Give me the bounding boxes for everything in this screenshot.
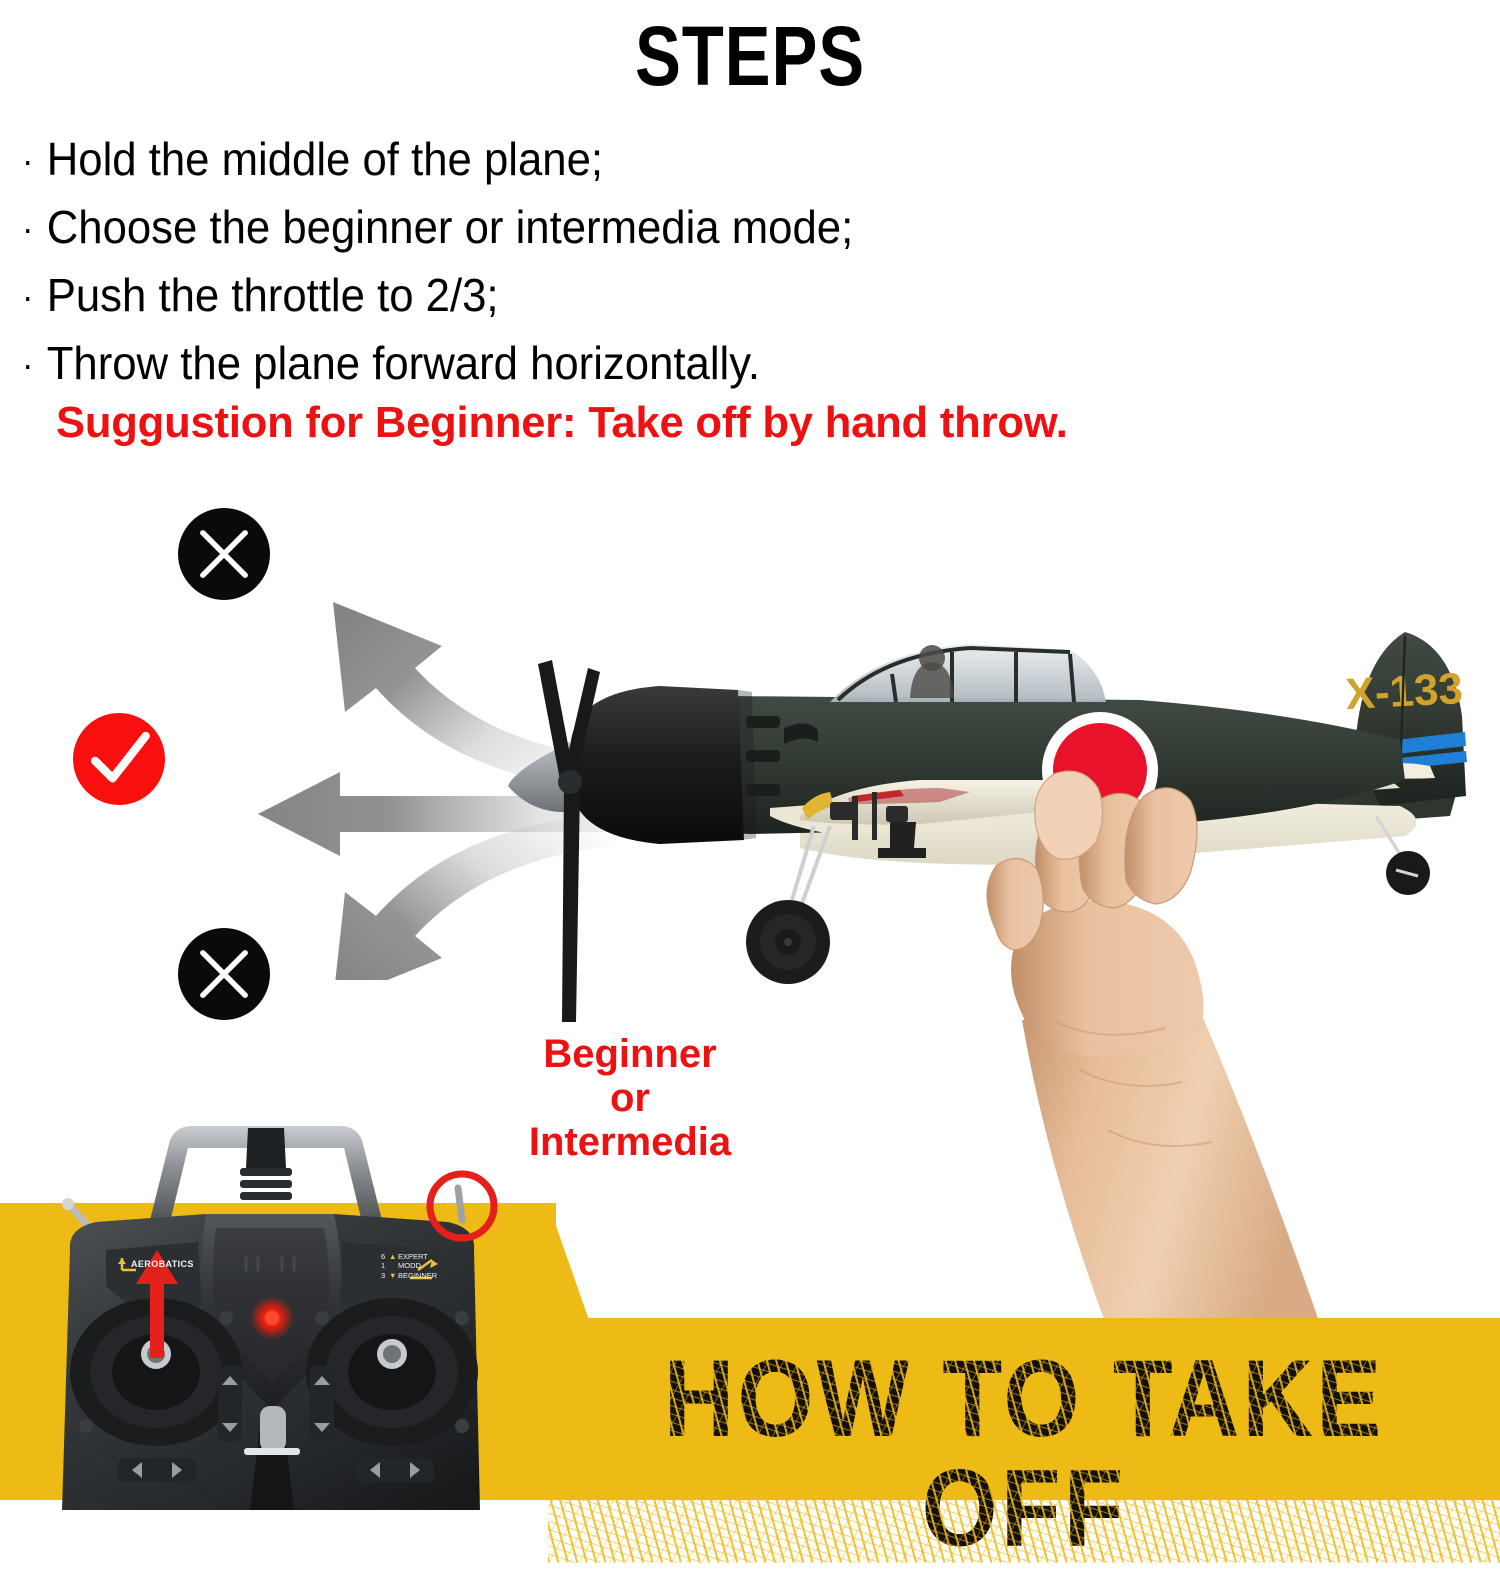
mode-label: EXPERT xyxy=(398,1252,428,1261)
step-text: Push the throttle to 2/3; xyxy=(47,269,499,321)
stub-antenna-left xyxy=(62,1198,90,1228)
mode-triangle-icon: ▲ xyxy=(389,1252,398,1261)
mode-callout-line3: Intermedia xyxy=(490,1120,770,1164)
trim-horizontal-right xyxy=(356,1458,434,1482)
trim-horizontal-left xyxy=(118,1458,196,1482)
canopy xyxy=(830,644,1106,702)
mode-row: 3▼BEGINNER xyxy=(381,1271,437,1280)
steps-list: ·Hold the middle of the plane; ·Choose t… xyxy=(22,126,1482,398)
rc-transmitter xyxy=(10,1110,530,1510)
mode-label: BEGINNER xyxy=(398,1271,437,1280)
trim-vertical-left xyxy=(218,1366,242,1442)
mode-number: 1 xyxy=(381,1261,389,1270)
mode-switch-legend: 6▲EXPERT 1MODD 3▼BEGINNER xyxy=(381,1252,437,1280)
step-text: Hold the middle of the plane; xyxy=(47,133,603,185)
mode-triangle-icon: ▼ xyxy=(389,1271,398,1280)
mode-label: MODD xyxy=(398,1261,421,1270)
mode-row: 1MODD xyxy=(381,1261,437,1270)
step-item: ·Hold the middle of the plane; xyxy=(22,126,1409,194)
banner-title: HOW TO TAKE OFF xyxy=(548,1343,1500,1563)
x-mark-icon-top xyxy=(178,508,270,600)
aerobatics-label: AEROBATICS xyxy=(131,1259,194,1269)
step-item: ·Throw the plane forward horizontally. xyxy=(22,330,1409,398)
mode-number: 3 xyxy=(381,1271,389,1280)
mode-callout-text: Beginner or Intermedia xyxy=(490,1032,770,1164)
trim-vertical-right xyxy=(310,1366,334,1442)
page-title: STEPS xyxy=(135,14,1365,98)
mode-callout-line1: Beginner xyxy=(490,1032,770,1076)
bullet-icon: · xyxy=(22,196,47,262)
hand-holding-plane xyxy=(930,770,1350,1330)
step-text: Throw the plane forward horizontally. xyxy=(47,337,760,389)
banner-title-text: HOW TO TAKE OFF xyxy=(548,1343,1500,1563)
step-text: Choose the beginner or intermedia mode; xyxy=(47,201,854,253)
check-mark-icon xyxy=(73,713,165,805)
step-item: ·Push the throttle to 2/3; xyxy=(22,262,1409,330)
x-mark-icon-bottom xyxy=(178,928,270,1020)
bullet-icon: · xyxy=(22,264,47,330)
mode-toggle-switch xyxy=(458,1188,462,1220)
banner-diagonal-notch xyxy=(548,1203,590,1323)
mode-callout-line2: or xyxy=(490,1076,770,1120)
bullet-icon: · xyxy=(22,332,47,398)
step-item: ·Choose the beginner or intermedia mode; xyxy=(22,194,1409,262)
beginner-suggestion-text: Suggustion for Beginner: Take off by han… xyxy=(56,398,1068,448)
antenna-base xyxy=(240,1128,292,1200)
mode-number: 6 xyxy=(381,1252,389,1261)
bullet-icon: · xyxy=(22,128,47,194)
power-led xyxy=(250,1296,294,1340)
mode-row: 6▲EXPERT xyxy=(381,1252,437,1261)
